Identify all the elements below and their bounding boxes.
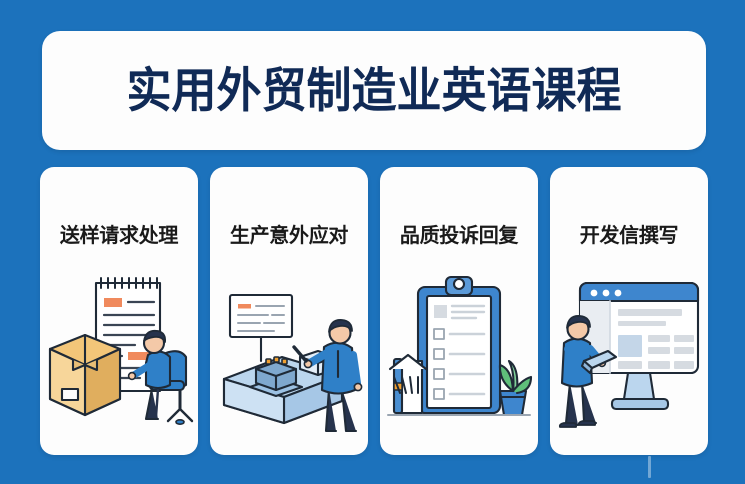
poster-canvas: 实用外贸制造业英语课程 送样请求处理	[0, 0, 745, 484]
bottom-right-mark	[648, 456, 651, 478]
feature-card-production-incident[interactable]: 生产意外应对	[210, 167, 368, 455]
quality-complaint-illustration	[380, 265, 538, 445]
sample-request-illustration	[40, 265, 198, 445]
card-title: 品质投诉回复	[380, 219, 538, 248]
header-card: 实用外贸制造业英语课程	[42, 31, 706, 150]
card-title: 开发信撰写	[550, 219, 708, 248]
feature-card-development-letter[interactable]: 开发信撰写	[550, 167, 708, 455]
feature-card-row: 送样请求处理	[40, 167, 708, 455]
page-title: 实用外贸制造业英语课程	[126, 67, 621, 115]
production-incident-illustration	[210, 265, 368, 445]
feature-card-quality-complaint[interactable]: 品质投诉回复	[380, 167, 538, 455]
card-title: 生产意外应对	[210, 219, 368, 248]
card-title: 送样请求处理	[40, 219, 198, 248]
development-letter-illustration	[550, 265, 708, 445]
feature-card-sample-request[interactable]: 送样请求处理	[40, 167, 198, 455]
